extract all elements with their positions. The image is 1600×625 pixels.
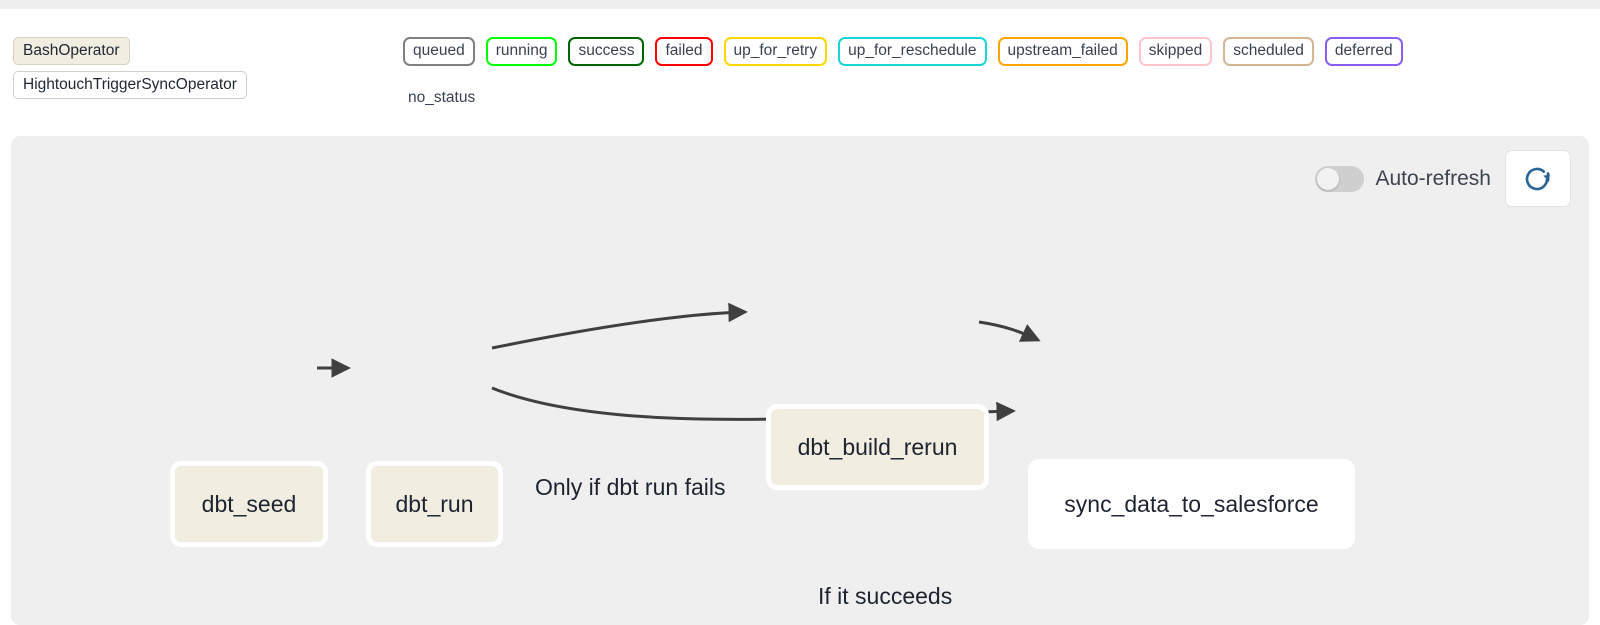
task-node-label: sync_data_to_salesforce: [1064, 491, 1318, 518]
status-chip-label: upstream_failed: [1008, 42, 1118, 59]
refresh-button[interactable]: [1505, 150, 1571, 207]
toggle-switch-off-icon[interactable]: [1315, 166, 1364, 192]
operator-chip-bashoperator[interactable]: BashOperator: [13, 37, 130, 65]
task-node-dbt-seed[interactable]: dbt_seed: [170, 461, 328, 547]
status-chip-deferred[interactable]: deferred: [1325, 37, 1403, 66]
graph-toolbar: Auto-refresh: [1315, 150, 1571, 207]
legend-band: BashOperator HightouchTriggerSyncOperato…: [0, 9, 1600, 127]
status-chip-running[interactable]: running: [486, 37, 558, 66]
task-node-sync-data-to-salesforce[interactable]: sync_data_to_salesforce: [1028, 459, 1355, 549]
status-chip-label: running: [496, 42, 548, 59]
operator-legend: BashOperator HightouchTriggerSyncOperato…: [13, 37, 247, 99]
status-chip-label: up_for_retry: [734, 42, 818, 59]
task-node-label: dbt_seed: [202, 491, 297, 518]
status-chip-label: no_status: [408, 89, 475, 106]
edge-label-if-it-succeeds: If it succeeds: [818, 583, 952, 610]
task-node-label: dbt_build_rerun: [798, 434, 958, 461]
graph-canvas[interactable]: Auto-refresh: [11, 136, 1589, 625]
status-chip-no-status[interactable]: no_status: [403, 84, 485, 113]
task-node-dbt-run[interactable]: dbt_run: [366, 461, 503, 547]
edge-dbt-build-rerun-to-sync-data-to-salesforce: [979, 322, 1038, 340]
task-node-label: dbt_run: [395, 491, 473, 518]
operator-chip-hightouchtriggersyncoperator[interactable]: HightouchTriggerSyncOperator: [13, 71, 247, 99]
status-legend: queued running success failed up_for_ret…: [403, 37, 1583, 113]
status-chip-label: success: [578, 42, 634, 59]
status-chip-skipped[interactable]: skipped: [1139, 37, 1212, 66]
auto-refresh-label: Auto-refresh: [1375, 167, 1491, 191]
status-chip-label: queued: [413, 42, 465, 59]
status-chip-failed[interactable]: failed: [655, 37, 712, 66]
status-chip-scheduled[interactable]: scheduled: [1223, 37, 1314, 66]
operator-chip-label: BashOperator: [23, 42, 120, 59]
status-chip-label: failed: [665, 42, 702, 59]
status-chip-up-for-retry[interactable]: up_for_retry: [724, 37, 828, 66]
status-chip-upstream-failed[interactable]: upstream_failed: [998, 37, 1128, 66]
edge-dbt-run-to-dbt-build-rerun: [492, 312, 745, 348]
status-chip-success[interactable]: success: [568, 37, 644, 66]
status-chip-label: up_for_reschedule: [848, 42, 976, 59]
status-chip-up-for-reschedule[interactable]: up_for_reschedule: [838, 37, 986, 66]
status-chip-label: skipped: [1149, 42, 1202, 59]
status-chip-label: scheduled: [1233, 42, 1304, 59]
dag-graph-page: BashOperator HightouchTriggerSyncOperato…: [0, 0, 1600, 625]
refresh-icon: [1523, 164, 1553, 194]
status-chip-label: deferred: [1335, 42, 1393, 59]
graph-edges: [11, 136, 1589, 625]
operator-chip-label: HightouchTriggerSyncOperator: [23, 76, 237, 93]
top-cutoff-strip: [0, 0, 1600, 9]
auto-refresh-control[interactable]: Auto-refresh: [1315, 166, 1491, 192]
toggle-knob: [1317, 168, 1339, 190]
status-chip-queued[interactable]: queued: [403, 37, 475, 66]
edge-label-only-if-dbt-run-fails: Only if dbt run fails: [535, 474, 725, 501]
task-node-dbt-build-rerun[interactable]: dbt_build_rerun: [766, 404, 989, 490]
